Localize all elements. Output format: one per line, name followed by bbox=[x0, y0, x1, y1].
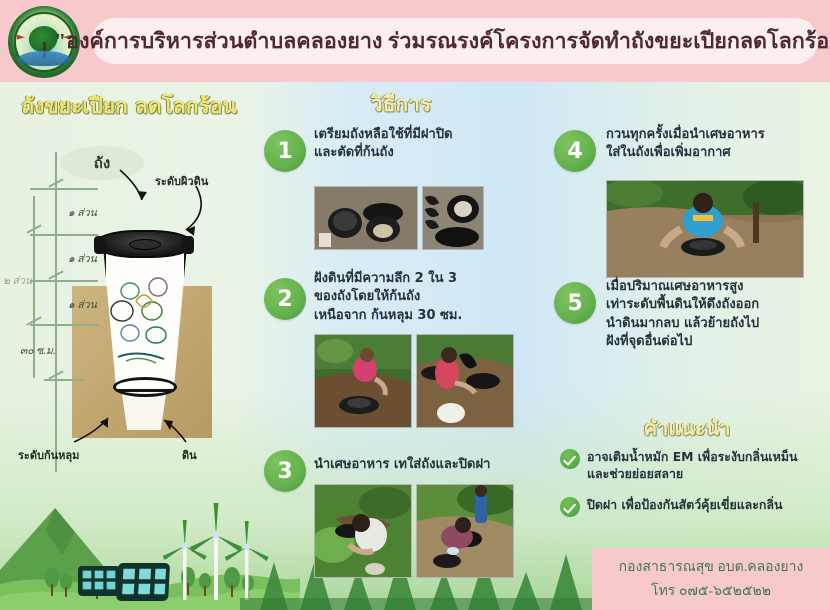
step-2-photo-1 bbox=[314, 334, 412, 428]
footer-organization: กองสาธารณสุข อบต.คลองยาง bbox=[619, 556, 804, 578]
step-3-photo-1 bbox=[314, 484, 412, 578]
header-banner: "องค์การบริหารส่วนตำบลคลองยาง ร่วมรณรงค์… bbox=[0, 0, 830, 82]
step-2-photo-2 bbox=[416, 334, 514, 428]
food-scraps-scribbles bbox=[106, 249, 184, 389]
step-3-text: นำเศษอาหาร เทใส่ถังและปิดฝา bbox=[314, 456, 544, 474]
advice-item-2-text: ปิดฝา เพื่อป้องกันสัตว์คุ้ยเขี่ยและกลิ่น bbox=[587, 496, 783, 513]
bin-body bbox=[103, 246, 187, 392]
measure-label-30cm: ๓๐ ซ.ม. bbox=[20, 342, 56, 359]
step-1-photo-1 bbox=[314, 186, 418, 250]
step-3-photo-2 bbox=[416, 484, 514, 578]
how-to-title: วิธีการ bbox=[258, 88, 544, 121]
advice-title: คำแนะนำ bbox=[544, 412, 830, 444]
step-2-badge: 2 bbox=[264, 278, 306, 320]
left-panel-title: ถังขยะเปียก ลดโลกร้อน bbox=[0, 90, 258, 123]
header-title-container: "องค์การบริหารส่วนตำบลคลองยาง ร่วมรณรงค์… bbox=[92, 14, 818, 68]
advice-item-1-text: อาจเติมน้ำหมัก EM เพื่อระงับกลิ่นเหม็น แ… bbox=[587, 448, 797, 483]
measure-label-part-1: ๑ ส่วน bbox=[68, 204, 97, 221]
measure-label-two-parts: ๒ ส่วน bbox=[3, 272, 32, 289]
ruler-tick bbox=[30, 188, 98, 190]
check-icon bbox=[560, 497, 580, 517]
measure-label-part-2: ๑ ส่วน bbox=[68, 250, 97, 267]
footer-phone: โทร ๐๗๕-๖๕๒๕๒๒ bbox=[651, 580, 771, 602]
step-1-photo-2 bbox=[422, 186, 484, 250]
ruler-tick bbox=[30, 324, 98, 326]
ruler-main-axis bbox=[55, 152, 57, 472]
right-column: 4 กวนทุกครั้งเมื่อนำเศษอาหาร ใส่ในถังเพื… bbox=[544, 82, 830, 610]
step-1-badge: 1 bbox=[264, 130, 306, 172]
step-4-text: กวนทุกครั้งเมื่อนำเศษอาหาร ใส่ในถังเพื่อ… bbox=[606, 126, 826, 163]
bin-callout-bubble: ถัง bbox=[60, 146, 144, 180]
label-pit-bottom: ระดับก้นหลุม bbox=[18, 446, 79, 464]
label-ground-level: ระดับผิวดิน bbox=[155, 172, 208, 190]
step-5-badge: 5 bbox=[554, 282, 596, 324]
label-soil: ดิน bbox=[182, 446, 197, 464]
measure-label-part-3: ๑ ส่วน bbox=[68, 296, 97, 313]
bin-burial-diagram: ๑ ส่วน ๑ ส่วน ๑ ส่วน ๒ ส่วน ๓๐ ซ.ม. bbox=[0, 134, 258, 514]
advice-item-1: อาจเติมน้ำหมัก EM เพื่อระงับกลิ่นเหม็น แ… bbox=[560, 448, 822, 483]
footer-contact-block: กองสาธารณสุข อบต.คลองยาง โทร ๐๗๕-๖๕๒๕๒๒ bbox=[592, 548, 830, 610]
page-title: "องค์การบริหารส่วนตำบลคลองยาง ร่วมรณรงค์… bbox=[54, 24, 830, 58]
step-4-photo-1 bbox=[606, 180, 804, 278]
step-2-text: ฝังดินที่มีความลึก 2 ใน 3 ของถังโดยให้ก้… bbox=[314, 270, 540, 325]
step-1-text: เตรียมถังหลือใช้ที่มีฝาปิด และตัดที่ก้นถ… bbox=[314, 126, 538, 163]
how-to-column: วิธีการ 1 เตรียมถังหลือใช้ที่มีฝาปิด และ… bbox=[258, 82, 544, 610]
bin-lid bbox=[94, 230, 194, 258]
ruler-tick bbox=[30, 280, 98, 282]
advice-item-2: ปิดฝา เพื่อป้องกันสัตว์คุ้ยเขี่ยและกลิ่น bbox=[560, 496, 826, 517]
step-4-badge: 4 bbox=[554, 130, 596, 172]
step-3-badge: 3 bbox=[264, 450, 306, 492]
infographic-poster: "องค์การบริหารส่วนตำบลคลองยาง ร่วมรณรงค์… bbox=[0, 0, 830, 610]
ruler-tick bbox=[30, 234, 98, 236]
check-icon bbox=[560, 449, 580, 469]
step-5-text: เมื่อปริมาณเศษอาหารสูง เท่าระดับพื้นดินใ… bbox=[606, 278, 830, 352]
bin-cut-bottom-edge bbox=[113, 377, 177, 397]
left-diagram-panel: ถังขยะเปียก ลดโลกร้อน ๑ ส่วน ๑ ส่วน ๑ ส่… bbox=[0, 82, 258, 610]
